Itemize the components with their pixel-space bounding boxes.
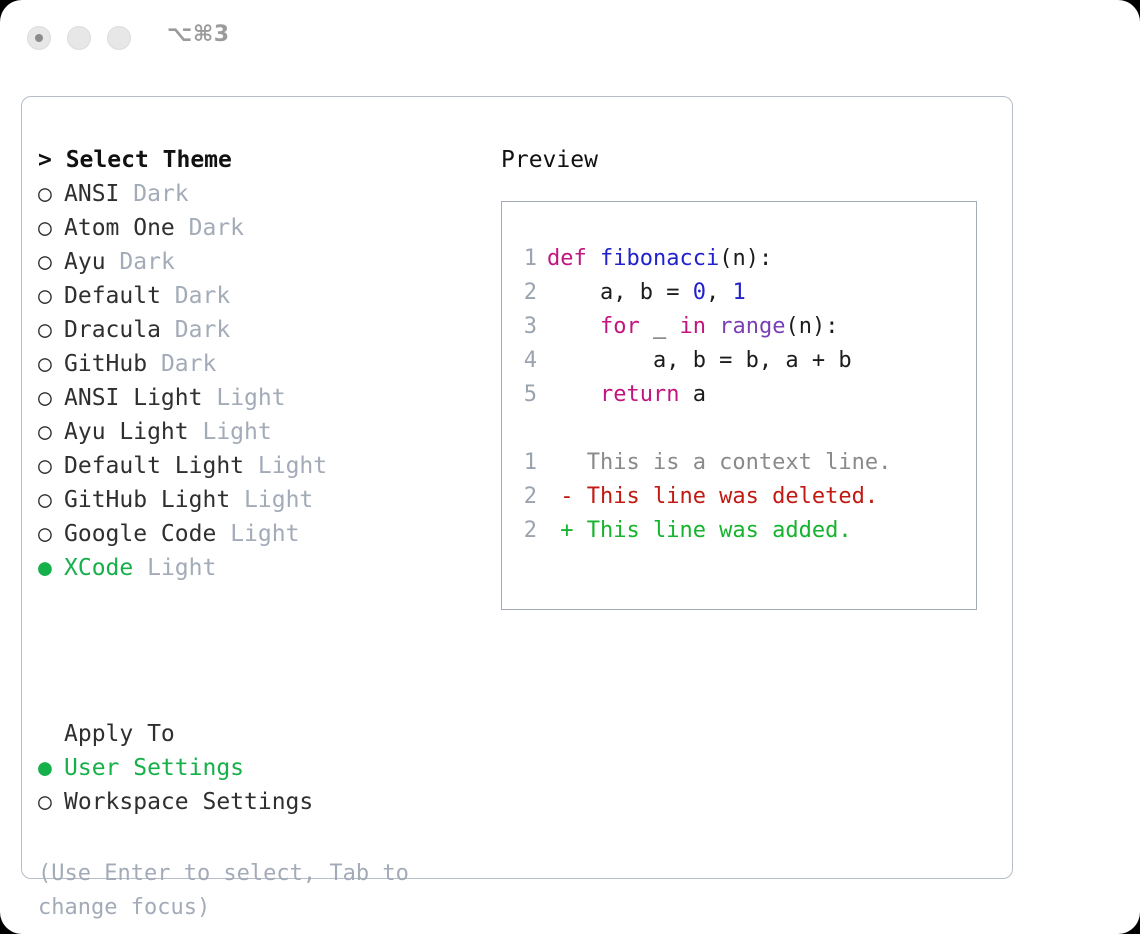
theme-name: Ayu Light <box>64 419 189 445</box>
theme-variant-label: Light <box>202 419 271 445</box>
apply-to-option[interactable]: ○Workspace Settings <box>38 785 468 819</box>
code-sample: 1def fibonacci(n):2 a, b = 0, 13 for _ i… <box>513 242 970 548</box>
theme-name-variant-gap <box>161 283 175 309</box>
apply-to-heading-text: Apply To <box>64 721 175 747</box>
radio-unselected-icon: ○ <box>38 415 64 449</box>
radio-selected-icon: ● <box>38 551 64 585</box>
line-number: 3 <box>513 310 537 344</box>
theme-list-item[interactable]: ○Dracula Dark <box>38 313 468 347</box>
theme-name-variant-gap <box>189 419 203 445</box>
theme-name: GitHub <box>64 351 147 377</box>
code-token <box>706 314 719 339</box>
code-token: def <box>547 246 600 271</box>
theme-list-item[interactable]: ○Atom One Dark <box>38 211 468 245</box>
line-number: 4 <box>513 344 537 378</box>
code-token: , <box>706 280 733 305</box>
radio-unselected-icon: ○ <box>38 483 64 517</box>
theme-list-item[interactable]: ○Ayu Light Light <box>38 415 468 449</box>
theme-list: > Select Theme ○ANSI Dark○Atom One Dark○… <box>38 143 468 585</box>
theme-variant-label: Dark <box>175 283 230 309</box>
theme-list-item[interactable]: ○ANSI Light Light <box>38 381 468 415</box>
preview-box: 1def fibonacci(n):2 a, b = 0, 13 for _ i… <box>501 201 977 610</box>
apply-to-options: ●User Settings○Workspace Settings <box>38 751 468 819</box>
theme-variant-label: Light <box>216 385 285 411</box>
radio-unselected-icon: ○ <box>38 313 64 347</box>
theme-name: Google Code <box>64 521 216 547</box>
theme-name-variant-gap <box>230 487 244 513</box>
code-token: in <box>679 314 706 339</box>
theme-list-item[interactable]: ○ANSI Dark <box>38 177 468 211</box>
theme-name-variant-gap <box>147 351 161 377</box>
theme-variant-label: Light <box>244 487 313 513</box>
theme-variant-label: Light <box>230 521 299 547</box>
line-number: 2 <box>513 276 537 310</box>
code-token: 0 <box>693 280 706 305</box>
theme-name-variant-gap <box>133 555 147 581</box>
code-token: - This line was deleted. <box>547 484 878 509</box>
code-token: This is a context line. <box>547 450 891 475</box>
app-window: ⌥⌘3 > Select Theme ○ANSI Dark○Atom One D… <box>0 0 1140 934</box>
theme-items-container: ○ANSI Dark○Atom One Dark○Ayu Dark○Defaul… <box>38 177 468 585</box>
radio-unselected-icon: ○ <box>38 449 64 483</box>
apply-to-option[interactable]: ●User Settings <box>38 751 468 785</box>
theme-name-variant-gap <box>161 317 175 343</box>
radio-unselected-icon: ○ <box>38 279 64 313</box>
theme-name-variant-gap <box>216 521 230 547</box>
line-number: 5 <box>513 378 537 412</box>
code-diff-separator <box>513 412 970 446</box>
apply-to-section: Apply To ●User Settings○Workspace Settin… <box>38 717 468 819</box>
theme-list-item[interactable]: ○Default Dark <box>38 279 468 313</box>
theme-name-variant-gap <box>106 249 120 275</box>
theme-selector-panel: > Select Theme ○ANSI Dark○Atom One Dark○… <box>21 96 1013 879</box>
theme-name: Atom One <box>64 215 175 241</box>
theme-variant-label: Dark <box>133 181 188 207</box>
radio-unselected-icon: ○ <box>38 785 64 819</box>
code-line: 1def fibonacci(n): <box>513 242 970 276</box>
keyboard-hint: (Use Enter to select, Tab to change focu… <box>38 857 450 925</box>
heading-caret: > <box>38 147 66 173</box>
theme-name-variant-gap <box>244 453 258 479</box>
radio-unselected-icon: ○ <box>38 245 64 279</box>
code-token: (n): <box>785 314 838 339</box>
apply-heading-spacer <box>38 717 64 751</box>
line-number: 2 <box>513 480 537 514</box>
code-token: range <box>719 314 785 339</box>
theme-list-heading: > Select Theme <box>38 143 468 177</box>
theme-name-variant-gap <box>202 385 216 411</box>
keyboard-shortcut-label: ⌥⌘3 <box>167 22 230 47</box>
theme-name: Default <box>64 283 161 309</box>
code-token: + This line was added. <box>547 518 852 543</box>
code-line: 2 a, b = 0, 1 <box>513 276 970 310</box>
code-token: fibonacci <box>600 246 719 271</box>
preview-section: Preview 1def fibonacci(n):2 a, b = 0, 13… <box>501 143 996 177</box>
theme-variant-label: Dark <box>175 317 230 343</box>
title-bar: ⌥⌘3 <box>0 0 1140 78</box>
code-line: 3 for _ in range(n): <box>513 310 970 344</box>
code-line: 4 a, b = b, a + b <box>513 344 970 378</box>
apply-to-heading: Apply To <box>38 717 468 751</box>
heading-text: Select Theme <box>66 147 232 173</box>
theme-name: Default Light <box>64 453 244 479</box>
line-number: 1 <box>513 242 537 276</box>
radio-unselected-icon: ○ <box>38 381 64 415</box>
theme-variant-label: Dark <box>119 249 174 275</box>
diff-line: 2 - This line was deleted. <box>513 480 970 514</box>
record-dot-icon <box>35 34 43 42</box>
apply-to-option-label: Workspace Settings <box>64 789 313 815</box>
theme-list-item[interactable]: ○Ayu Dark <box>38 245 468 279</box>
code-token: (n): <box>719 246 772 271</box>
radio-selected-icon: ● <box>38 751 64 785</box>
code-token: a <box>679 382 706 407</box>
theme-list-item[interactable]: ○GitHub Dark <box>38 347 468 381</box>
code-token: a, b = b, a + b <box>547 348 852 373</box>
line-number: 1 <box>513 446 537 480</box>
theme-variant-label: Dark <box>189 215 244 241</box>
line-number: 2 <box>513 514 537 548</box>
theme-list-item[interactable]: ●XCode Light <box>38 551 468 585</box>
code-token <box>547 382 600 407</box>
theme-name: XCode <box>64 555 133 581</box>
theme-name: ANSI <box>64 181 119 207</box>
theme-name: Ayu <box>64 249 106 275</box>
window-button-three[interactable] <box>107 26 131 50</box>
radio-unselected-icon: ○ <box>38 517 64 551</box>
theme-variant-label: Light <box>258 453 327 479</box>
code-line: 5 return a <box>513 378 970 412</box>
code-token: a, b = <box>547 280 693 305</box>
code-token <box>547 314 600 339</box>
theme-variant-label: Dark <box>161 351 216 377</box>
window-button-two[interactable] <box>67 26 91 50</box>
preview-heading: Preview <box>501 143 996 177</box>
theme-variant-label: Light <box>147 555 216 581</box>
theme-name-variant-gap <box>119 181 133 207</box>
radio-unselected-icon: ○ <box>38 211 64 245</box>
theme-name: GitHub Light <box>64 487 230 513</box>
diff-line: 2 + This line was added. <box>513 514 970 548</box>
code-token: _ <box>640 314 680 339</box>
theme-list-item[interactable]: ○Default Light Light <box>38 449 468 483</box>
radio-unselected-icon: ○ <box>38 177 64 211</box>
code-token: 1 <box>732 280 745 305</box>
radio-unselected-icon: ○ <box>38 347 64 381</box>
code-token: return <box>600 382 679 407</box>
code-token: for <box>600 314 640 339</box>
theme-name-variant-gap <box>175 215 189 241</box>
diff-line: 1 This is a context line. <box>513 446 970 480</box>
theme-list-item[interactable]: ○GitHub Light Light <box>38 483 468 517</box>
theme-list-item[interactable]: ○Google Code Light <box>38 517 468 551</box>
apply-to-option-label: User Settings <box>64 755 244 781</box>
theme-name: ANSI Light <box>64 385 202 411</box>
theme-name: Dracula <box>64 317 161 343</box>
